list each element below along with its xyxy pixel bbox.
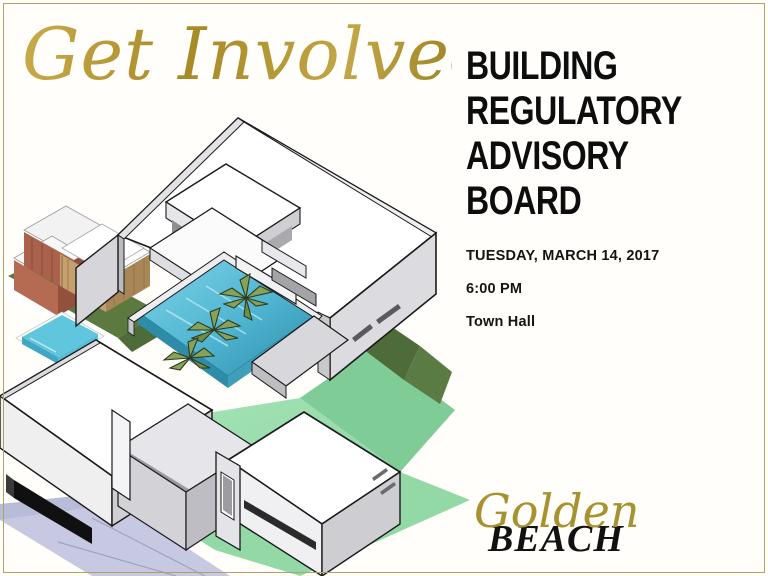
event-location: Town Hall <box>466 306 756 339</box>
event-title-line-4: BOARD <box>466 179 698 224</box>
event-date: TUESDAY, MARCH 14, 2017 <box>466 240 756 273</box>
event-title-line-2: REGULATORY <box>466 89 698 134</box>
event-title-line-1: BUILDING <box>466 44 698 89</box>
event-meta: TUESDAY, MARCH 14, 2017 6:00 PM Town Hal… <box>466 240 756 339</box>
event-time: 6:00 PM <box>466 273 756 306</box>
flyer-canvas: Get Involved BUILDING REGULATORY ADVISOR… <box>0 0 768 576</box>
architectural-rendering <box>0 80 470 576</box>
headline-script-get-involved: Get Involved <box>22 4 452 104</box>
event-title-line-3: ADVISORY <box>466 134 698 179</box>
event-details: BUILDING REGULATORY ADVISORY BOARD TUESD… <box>466 44 756 339</box>
golden-beach-logo: BEACH Golden <box>470 492 630 564</box>
logo-word-golden: Golden <box>474 488 639 534</box>
